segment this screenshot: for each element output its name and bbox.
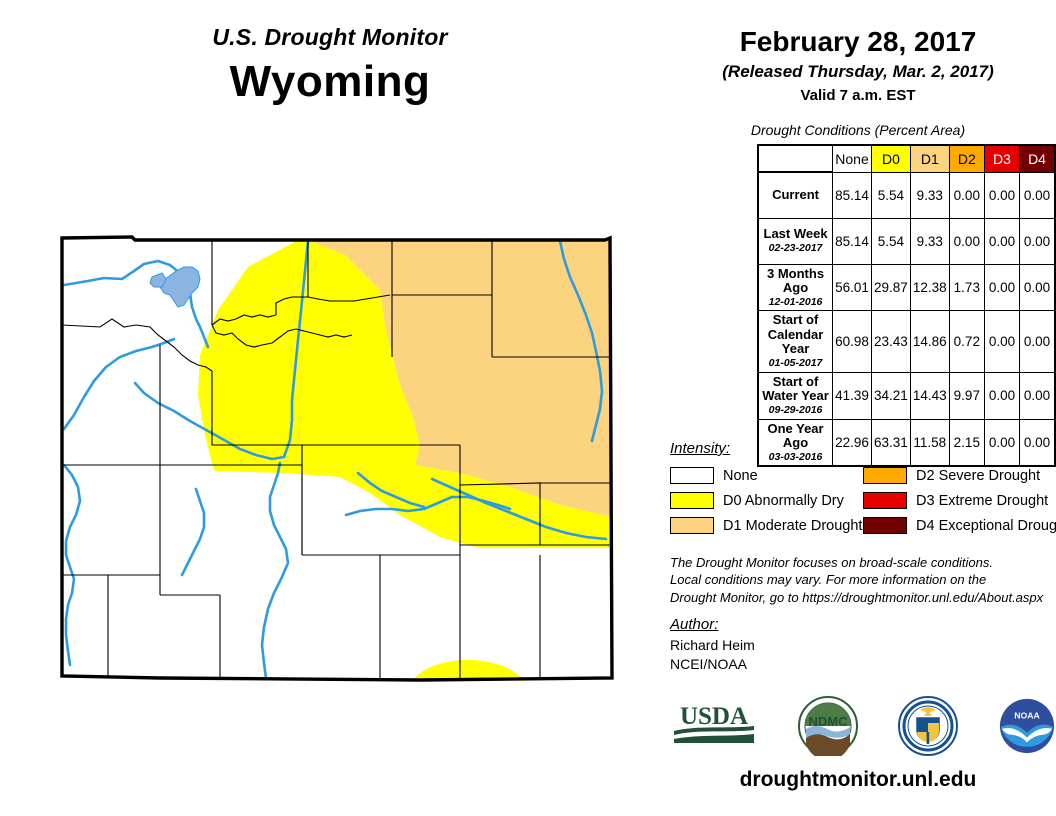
cell-d1: 14.43 xyxy=(910,372,949,419)
legend-swatch xyxy=(670,467,714,484)
cell-none: 56.01 xyxy=(833,264,872,311)
table-row: Current85.145.549.330.000.000.00 xyxy=(758,172,1055,218)
disclaimer-text: The Drought Monitor focuses on broad-sca… xyxy=(670,554,1056,606)
svg-text:NDMC: NDMC xyxy=(809,714,849,729)
legend-label: D4 Exceptional Drought xyxy=(916,518,1056,534)
legend-swatch xyxy=(670,517,714,534)
cell-d2: 0.00 xyxy=(949,172,984,218)
cell-d4: 0.00 xyxy=(1020,218,1055,264)
row-label-text: Start ofCalendar Year xyxy=(762,313,829,357)
legend-item: None xyxy=(670,463,863,488)
cell-d3: 0.00 xyxy=(984,172,1019,218)
legend-item: D1 Moderate Drought xyxy=(670,513,863,538)
site-url: droughtmonitor.unl.edu xyxy=(660,768,1056,792)
table-row: Start ofWater Year09-29-201641.3934.2114… xyxy=(758,372,1055,419)
legend-item: D0 Abnormally Dry xyxy=(670,488,863,513)
svg-text:USDA: USDA xyxy=(680,703,748,730)
table-row: Start ofCalendar Year01-05-201760.9823.4… xyxy=(758,311,1055,372)
drought-conditions-table: NoneD0D1D2D3D4 Current85.145.549.330.000… xyxy=(757,144,1056,467)
cell-d3: 0.00 xyxy=(984,218,1019,264)
row-label-date: 02-23-2017 xyxy=(762,243,829,255)
table-header: NoneD0D1D2D3D4 xyxy=(758,145,1055,172)
cell-d3: 0.00 xyxy=(984,311,1019,372)
left-title-block: U.S. Drought Monitor Wyoming xyxy=(0,24,660,107)
author-block: Author: Richard Heim NCEI/NOAA xyxy=(670,616,1056,674)
cell-d1: 9.33 xyxy=(910,172,949,218)
row-label: Start ofWater Year09-29-2016 xyxy=(758,372,833,419)
ndmc-logo: NDMC xyxy=(798,696,858,756)
cell-d4: 0.00 xyxy=(1020,372,1055,419)
row-label-date: 01-05-2017 xyxy=(762,358,829,370)
valid-time-line: Valid 7 a.m. EST xyxy=(660,87,1056,104)
intensity-heading: Intensity: xyxy=(670,440,1056,457)
cell-d3: 0.00 xyxy=(984,372,1019,419)
author-name: Richard Heim xyxy=(670,636,1056,655)
svg-text:NOAA: NOAA xyxy=(1014,710,1040,720)
row-label-text: Last Week xyxy=(762,227,829,242)
cell-d2: 1.73 xyxy=(949,264,984,311)
cell-d0: 29.87 xyxy=(871,264,910,311)
cell-none: 85.14 xyxy=(833,172,872,218)
legend-label: None xyxy=(723,468,758,484)
cell-d0: 5.54 xyxy=(871,218,910,264)
row-label-date: 12-01-2016 xyxy=(762,297,829,309)
cell-d0: 23.43 xyxy=(871,311,910,372)
usda-logo: USDA xyxy=(670,699,758,753)
legend-label: D3 Extreme Drought xyxy=(916,493,1048,509)
table-row: 3 Months Ago12-01-201656.0129.8712.381.7… xyxy=(758,264,1055,311)
row-label-date: 09-29-2016 xyxy=(762,405,829,417)
row-label-text: Current xyxy=(762,188,829,203)
legend-column-right: D2 Severe DroughtD3 Extreme DroughtD4 Ex… xyxy=(863,463,1056,538)
cell-d2: 9.97 xyxy=(949,372,984,419)
release-header: February 28, 2017 (Released Thursday, Ma… xyxy=(660,26,1056,104)
cell-none: 85.14 xyxy=(833,218,872,264)
table-header-d2: D2 xyxy=(949,145,984,172)
row-label: Start ofCalendar Year01-05-2017 xyxy=(758,311,833,372)
legend-swatch xyxy=(670,492,714,509)
row-label-text: 3 Months Ago xyxy=(762,267,829,296)
table-header-d0: D0 xyxy=(871,145,910,172)
row-label: 3 Months Ago12-01-2016 xyxy=(758,264,833,311)
table-row: Last Week02-23-201785.145.549.330.000.00… xyxy=(758,218,1055,264)
row-label: Last Week02-23-2017 xyxy=(758,218,833,264)
author-heading: Author: xyxy=(670,616,1056,633)
table-caption: Drought Conditions (Percent Area) xyxy=(660,122,1056,138)
cell-d2: 0.72 xyxy=(949,311,984,372)
usdc-seal-logo xyxy=(898,696,958,756)
cell-d1: 9.33 xyxy=(910,218,949,264)
disclaimer-line-3: Drought Monitor, go to https://droughtmo… xyxy=(670,589,1056,606)
released-on-line: (Released Thursday, Mar. 2, 2017) xyxy=(660,62,1056,82)
cell-none: 41.39 xyxy=(833,372,872,419)
legend-swatch xyxy=(863,492,907,509)
cell-d4: 0.00 xyxy=(1020,172,1055,218)
legend-column-left: NoneD0 Abnormally DryD1 Moderate Drought xyxy=(670,463,863,538)
table-header-none: None xyxy=(833,145,872,172)
disclaimer-line-1: The Drought Monitor focuses on broad-sca… xyxy=(670,554,1056,571)
state-title: Wyoming xyxy=(0,57,660,107)
legend-swatch xyxy=(863,517,907,534)
row-label-text: Start ofWater Year xyxy=(762,375,829,404)
legend-swatch xyxy=(863,467,907,484)
logo-row: USDA NDMC NOAA xyxy=(670,695,1056,757)
program-title: U.S. Drought Monitor xyxy=(0,24,660,51)
noaa-logo: NOAA xyxy=(998,697,1056,755)
row-label: Current xyxy=(758,172,833,218)
wyoming-drought-map xyxy=(40,215,650,705)
cell-d1: 12.38 xyxy=(910,264,949,311)
table-header-d3: D3 xyxy=(984,145,1019,172)
table-header-d4: D4 xyxy=(1020,145,1055,172)
cell-d2: 0.00 xyxy=(949,218,984,264)
legend-item: D4 Exceptional Drought xyxy=(863,513,1056,538)
legend-item: D3 Extreme Drought xyxy=(863,488,1056,513)
disclaimer-line-2: Local conditions may vary. For more info… xyxy=(670,571,1056,588)
cell-d1: 14.86 xyxy=(910,311,949,372)
legend-label: D0 Abnormally Dry xyxy=(723,493,844,509)
table-body: Current85.145.549.330.000.000.00Last Wee… xyxy=(758,172,1055,466)
legend-item: D2 Severe Drought xyxy=(863,463,1056,488)
legend-label: D2 Severe Drought xyxy=(916,468,1040,484)
table-header-row: NoneD0D1D2D3D4 xyxy=(758,145,1055,172)
author-affiliation: NCEI/NOAA xyxy=(670,655,1056,674)
release-date: February 28, 2017 xyxy=(660,26,1056,58)
intensity-legend: Intensity: NoneD0 Abnormally DryD1 Moder… xyxy=(670,440,1056,538)
table-header-d1: D1 xyxy=(910,145,949,172)
cell-d4: 0.00 xyxy=(1020,311,1055,372)
cell-none: 60.98 xyxy=(833,311,872,372)
cell-d0: 34.21 xyxy=(871,372,910,419)
cell-d4: 0.00 xyxy=(1020,264,1055,311)
cell-d3: 0.00 xyxy=(984,264,1019,311)
table-corner-cell xyxy=(758,145,833,172)
legend-label: D1 Moderate Drought xyxy=(723,518,862,534)
map-svg xyxy=(40,215,650,705)
cell-d0: 5.54 xyxy=(871,172,910,218)
